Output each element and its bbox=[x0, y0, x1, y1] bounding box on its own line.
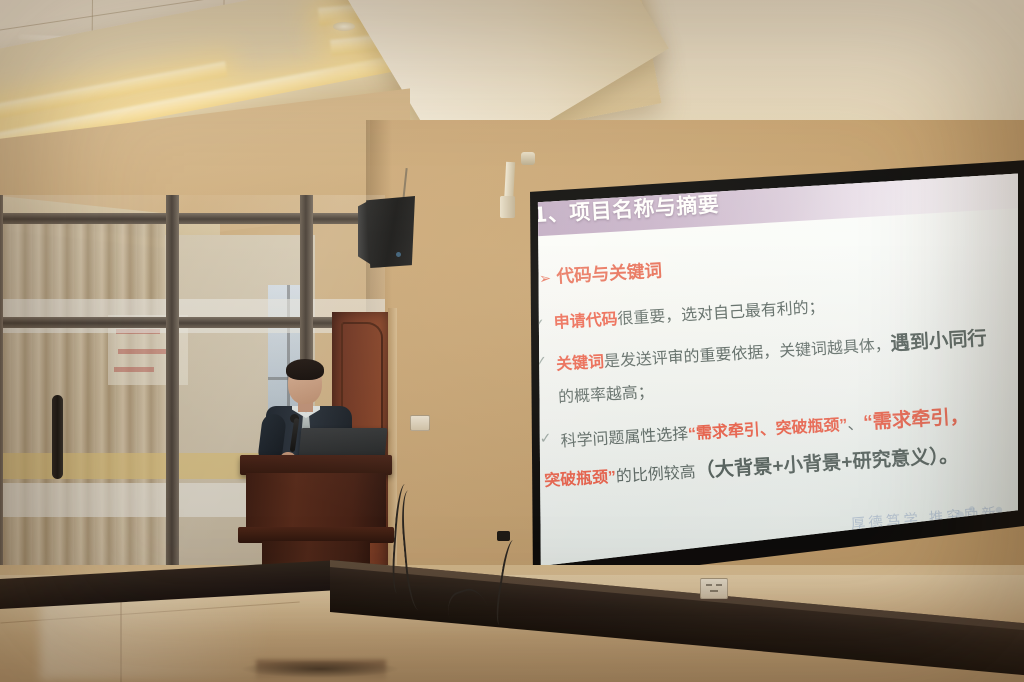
partition-post-center bbox=[166, 195, 179, 615]
bullet-2-large: 遇到小同行 bbox=[890, 327, 987, 355]
bullet-3-text: 科学问题属性选择 bbox=[560, 426, 688, 451]
partition-rail-top bbox=[0, 213, 385, 224]
bullet-3-cont-text: 的比例较高 bbox=[616, 464, 697, 486]
wall-plug[interactable] bbox=[497, 531, 510, 541]
podium-body bbox=[246, 473, 386, 529]
partition-door-handle[interactable] bbox=[52, 395, 63, 479]
check-icon-3: ✓ bbox=[539, 428, 552, 449]
bullet-1-emphasis: 申请代码 bbox=[553, 311, 618, 332]
screen-mount-bracket bbox=[521, 152, 535, 165]
presentation-room-photo: 01、项目名称与摘要 ➢代码与关键词 ✓ 申请代码很重要，选对自己最有利的； ✓… bbox=[0, 0, 1024, 682]
ceiling-downlight-1 bbox=[333, 22, 355, 31]
wall-speaker bbox=[363, 196, 415, 268]
speaker-led-icon bbox=[396, 252, 401, 257]
slide-content: 01、项目名称与摘要 ➢代码与关键词 ✓ 申请代码很重要，选对自己最有利的； ✓… bbox=[536, 172, 1018, 570]
podium-top bbox=[240, 455, 392, 475]
bullet-3-cont-emphasis: 突破瓶颈” bbox=[544, 469, 617, 491]
wall-outlet-left[interactable] bbox=[410, 415, 430, 431]
bullet-3-large-emphasis: “需求牵引， bbox=[863, 405, 970, 433]
arrow-bullet-icon: ➢ bbox=[539, 270, 552, 287]
podium-shadow bbox=[240, 660, 400, 678]
presenter-hair bbox=[286, 359, 324, 380]
partition-rail-mid bbox=[0, 317, 385, 328]
partition-post-left bbox=[0, 195, 3, 615]
wall-outlet-right[interactable] bbox=[700, 578, 728, 599]
screen-control-box bbox=[500, 196, 515, 218]
projection-screen-surface: 01、项目名称与摘要 ➢代码与关键词 ✓ 申请代码很重要，选对自己最有利的； ✓… bbox=[536, 172, 1018, 570]
bullet-2-emphasis: 关键词 bbox=[556, 354, 605, 374]
bullet-3-sep: 、 bbox=[847, 416, 864, 435]
